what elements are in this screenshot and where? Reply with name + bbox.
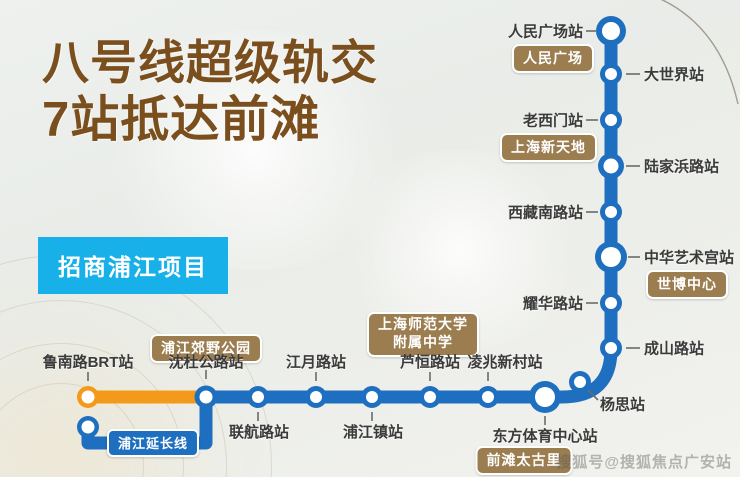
- station-label-renmin-guangchang: 人民广场站: [508, 21, 583, 42]
- station-label-lingzhao-xincun: 凌兆新村站: [467, 351, 542, 372]
- station-label-pujiang-zhen: 浦江镇站: [343, 421, 403, 442]
- station-dot-lianhang-lu[interactable]: [247, 386, 269, 408]
- station-label-yaohua-lu: 耀华路站: [523, 293, 583, 314]
- station-label-jiangyue-lu: 江月路站: [286, 351, 346, 372]
- poi-badge-line-2: 附属中学: [378, 334, 468, 352]
- station-dot-chengshan-lu[interactable]: [600, 337, 622, 359]
- station-dot-pujiang-zhen[interactable]: [361, 386, 383, 408]
- station-label-lianhang-lu: 联航路站: [229, 421, 289, 442]
- poi-badge-renmin-guangchang: 人民广场: [512, 44, 594, 73]
- station-label-chengshan-lu: 成山路站: [644, 338, 704, 359]
- station-dot-renmin-guangchang[interactable]: [596, 16, 626, 46]
- station-label-xizang-nanlu: 西藏南路站: [508, 202, 583, 223]
- station-label-lunan-lu-brt: 鲁南路BRT站: [43, 351, 134, 372]
- station-label-lujiabang-lu: 陆家浜路站: [644, 156, 719, 177]
- station-dot-yangsi[interactable]: [569, 371, 591, 393]
- station-dot-shendu-gonglu[interactable]: [195, 386, 218, 409]
- station-label-dongfang-tiyu-zhongxin: 东方体育中心站: [492, 425, 597, 446]
- station-label-shendu-gonglu: 沈杜公路站: [168, 351, 243, 372]
- station-dot-laoximen[interactable]: [600, 109, 622, 131]
- poi-badge-xintiandi: 上海新天地: [500, 133, 597, 162]
- infographic-root: 八号线超级轨交 7站抵达前滩 招商浦江项目: [0, 0, 740, 477]
- station-dot-lujiabang-lu[interactable]: [598, 153, 624, 179]
- poi-badge-line-1: 上海师范大学: [378, 316, 468, 334]
- station-label-zhonghua-yishugong: 中华艺术宫站: [644, 247, 734, 268]
- station-dot-dongfang-tiyu-zhongxin[interactable]: [529, 381, 561, 413]
- station-dot-zhonghua-yishugong[interactable]: [595, 241, 627, 273]
- station-label-dashijie: 大世界站: [644, 64, 704, 85]
- station-label-luheng-lu: 芦恒路站: [400, 351, 460, 372]
- watermark: 搜狐号@搜狐焦点广安站: [556, 451, 732, 472]
- station-dot-luheng-lu[interactable]: [419, 386, 441, 408]
- station-dot-jiangyue-lu[interactable]: [305, 386, 327, 408]
- branch-line-badge: 浦江延长线: [107, 429, 199, 457]
- station-dot-dashijie[interactable]: [600, 63, 622, 85]
- station-dot-lingzhao-xincun[interactable]: [477, 386, 499, 408]
- station-dot-xizang-nanlu[interactable]: [600, 201, 622, 223]
- station-label-laoximen: 老西门站: [523, 110, 583, 131]
- station-dot-branch-terminal[interactable]: [77, 416, 99, 438]
- station-label-yangsi: 杨思站: [600, 394, 645, 415]
- station-dot-yaohua-lu[interactable]: [600, 292, 622, 314]
- station-dot-lunan-lu-brt[interactable]: [77, 386, 99, 408]
- poi-badge-shibo-zhongxin: 世博中心: [646, 270, 728, 299]
